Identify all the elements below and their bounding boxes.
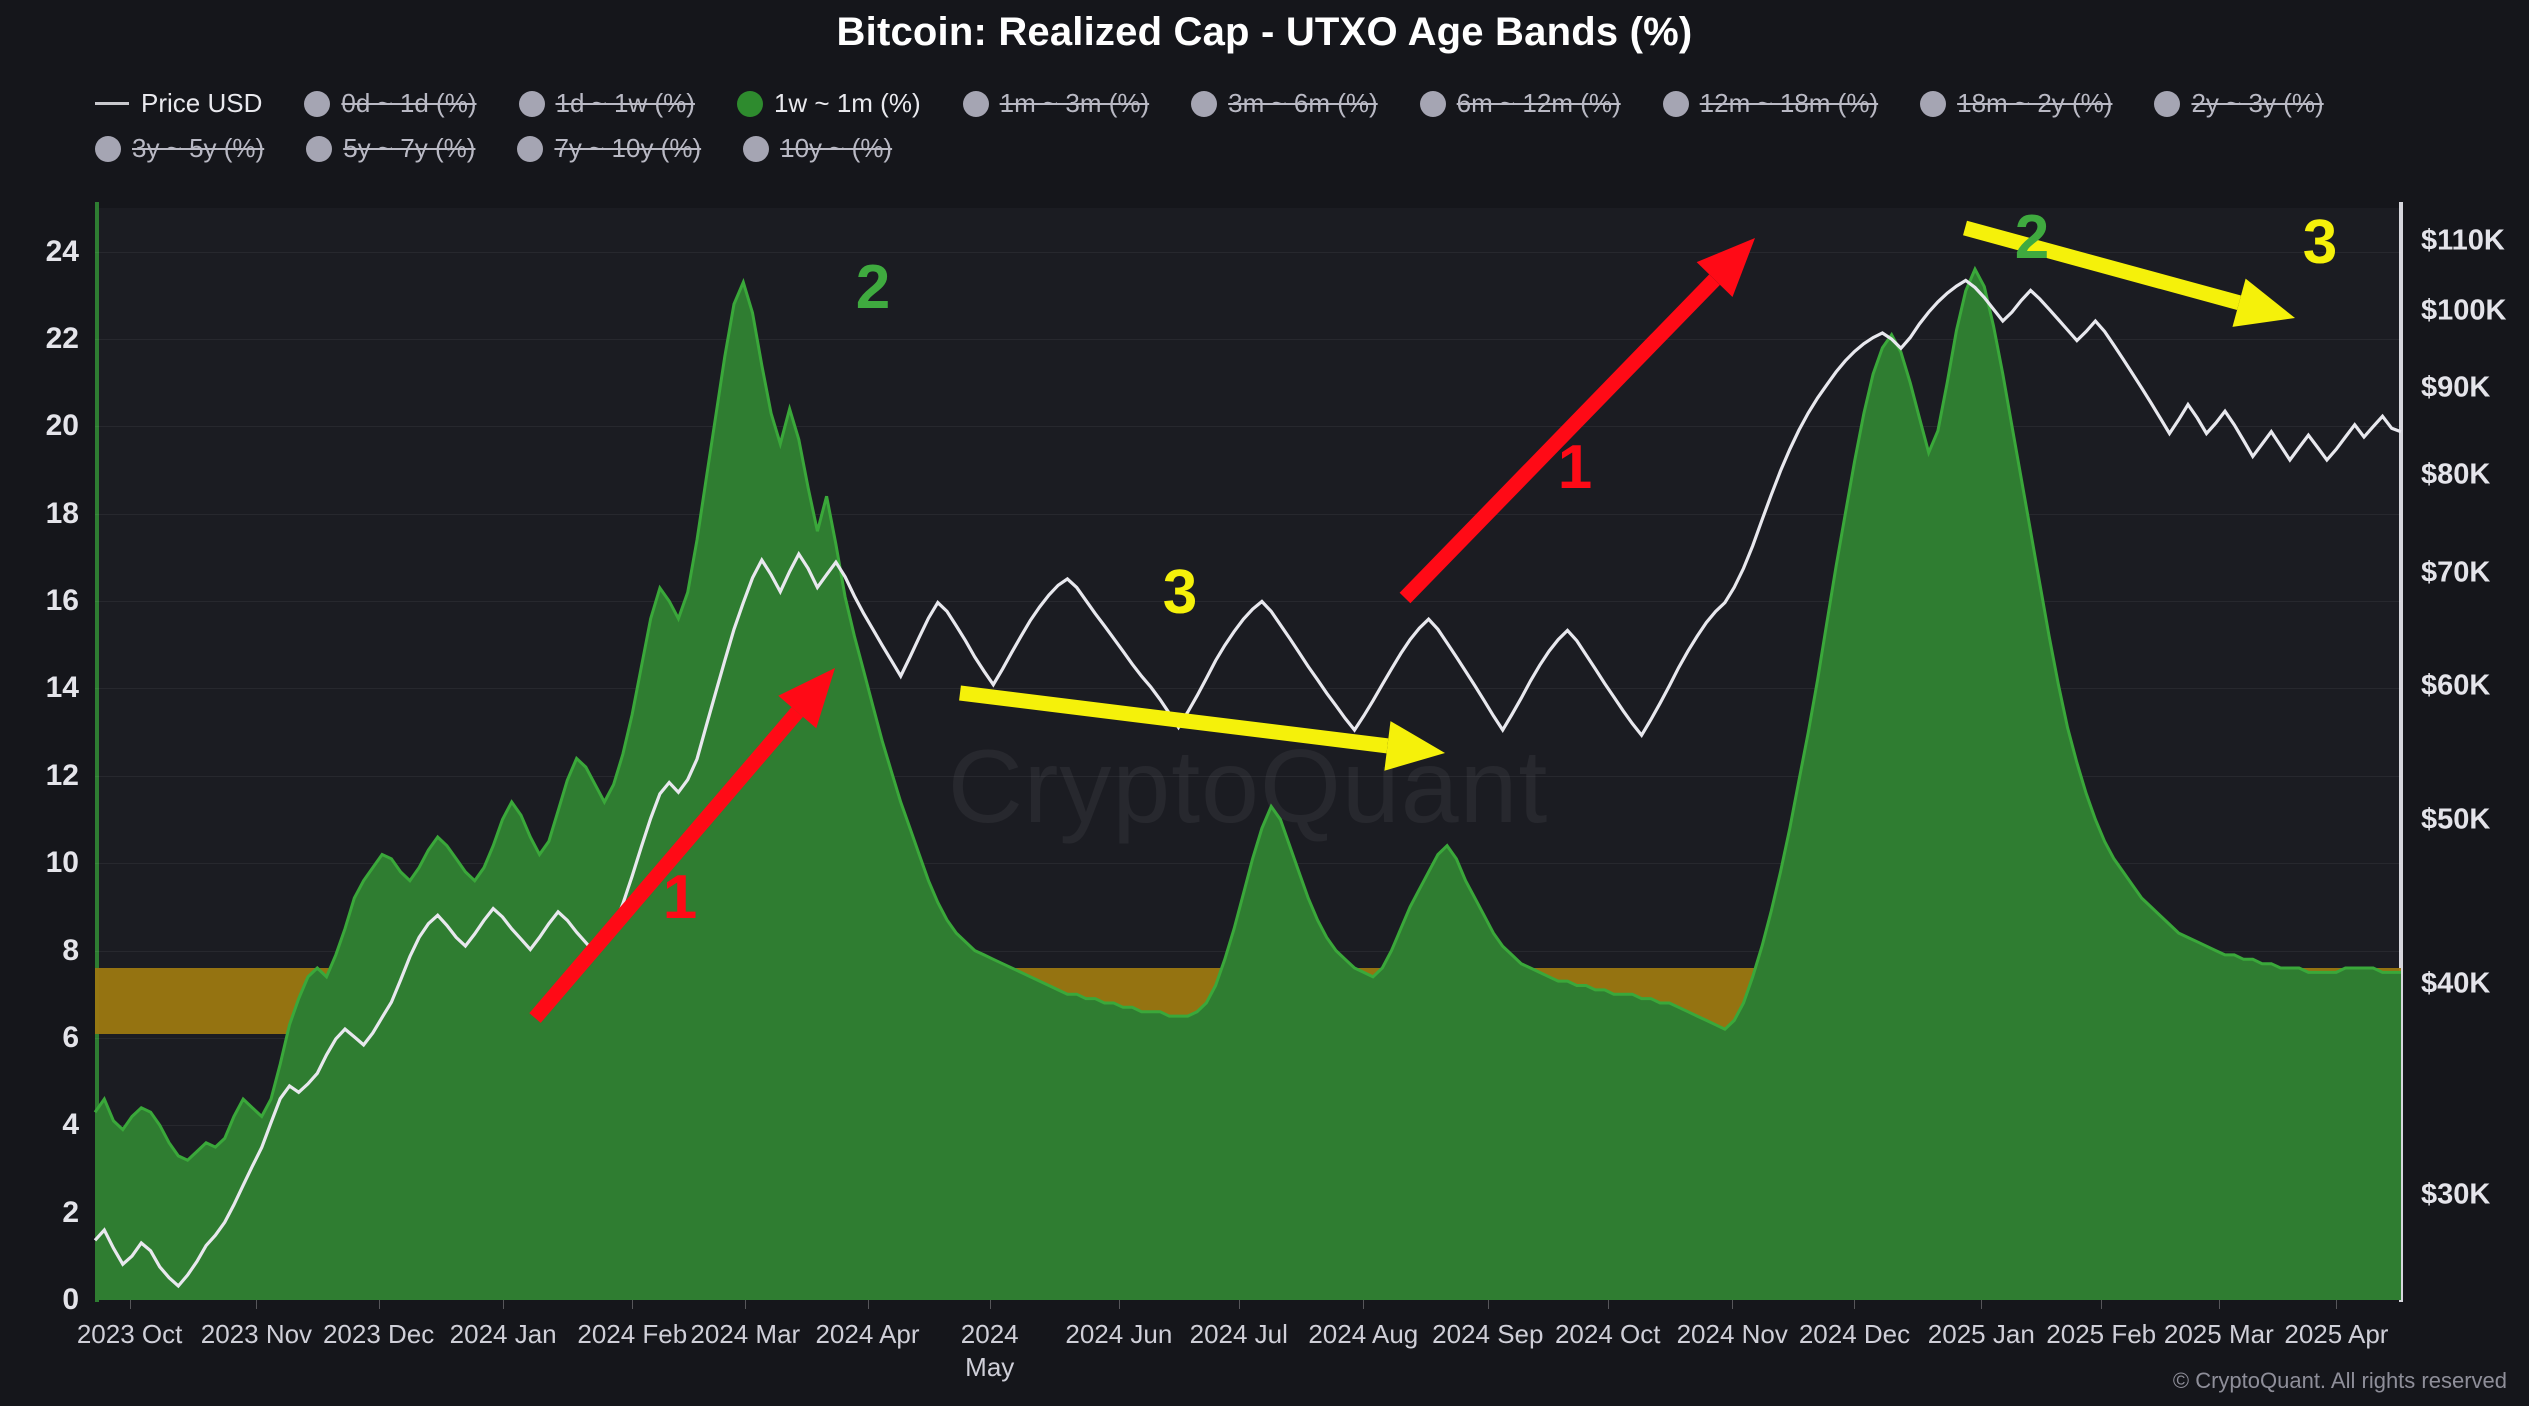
legend-label: 1w ~ 1m (%) — [774, 88, 921, 119]
price-line-swatch — [95, 102, 129, 105]
chart-title: Bitcoin: Realized Cap - UTXO Age Bands (… — [0, 10, 2529, 55]
x-axis-tickmark — [503, 1300, 504, 1309]
legend-item-1w-1m[interactable]: 1w ~ 1m (%) — [737, 88, 921, 119]
x-axis-tickmark — [868, 1300, 869, 1309]
x-axis-tickmark — [1119, 1300, 1120, 1309]
legend-dot-icon — [1191, 91, 1217, 117]
right-axis-tick-label: $110K — [2421, 224, 2529, 257]
right-axis-tick-label: $100K — [2421, 294, 2529, 327]
x-axis-tickmark — [1488, 1300, 1489, 1309]
legend-label: 18m ~ 2y (%) — [1957, 88, 2112, 119]
legend-label: 2y ~ 3y (%) — [2191, 88, 2323, 119]
legend-item-2y-3y[interactable]: 2y ~ 3y (%) — [2154, 88, 2323, 119]
left-axis-tick-label: 10 — [17, 846, 79, 880]
right-axis-tick-label: $80K — [2421, 458, 2529, 491]
x-axis-tickmark — [1732, 1300, 1733, 1309]
left-axis-tick-label: 4 — [17, 1108, 79, 1142]
left-axis-tick-label: 20 — [17, 409, 79, 443]
legend-dot-icon — [1663, 91, 1689, 117]
x-axis-tickmark — [1363, 1300, 1364, 1309]
left-axis-tick-label: 12 — [17, 759, 79, 793]
x-axis-tickmark — [2219, 1300, 2220, 1309]
right-axis-labels: $30K$40K$50K$60K$70K$80K$90K$100K$110K — [95, 208, 2401, 1300]
left-axis-tick-label: 22 — [17, 322, 79, 356]
right-axis-tick-label: $90K — [2421, 372, 2529, 405]
legend-item-price-usd[interactable]: Price USD — [95, 88, 262, 119]
legend-label: Price USD — [141, 88, 262, 119]
legend-item-3y-5y[interactable]: 3y ~ 5y (%) — [95, 133, 264, 164]
legend-item-6m-12m[interactable]: 6m ~ 12m (%) — [1420, 88, 1621, 119]
x-axis-tickmark — [2101, 1300, 2102, 1309]
legend-dot-icon — [2154, 91, 2180, 117]
x-axis-tickmark — [130, 1300, 131, 1309]
legend-label: 6m ~ 12m (%) — [1457, 88, 1621, 119]
legend-item-0d-1d[interactable]: 0d ~ 1d (%) — [304, 88, 476, 119]
legend-item-1d-1w[interactable]: 1d ~ 1w (%) — [519, 88, 695, 119]
legend-item-10y[interactable]: 10y ~ (%) — [743, 133, 892, 164]
legend-item-3m-6m[interactable]: 3m ~ 6m (%) — [1191, 88, 1378, 119]
x-axis-tickmark — [745, 1300, 746, 1309]
right-axis-tick-label: $50K — [2421, 803, 2529, 836]
x-axis-tickmark — [379, 1300, 380, 1309]
left-axis-tick-label: 6 — [17, 1021, 79, 1055]
legend-dot-icon — [1420, 91, 1446, 117]
x-axis-tickmark — [632, 1300, 633, 1309]
left-axis-tick-label: 18 — [17, 497, 79, 531]
left-axis-tick-label: 16 — [17, 584, 79, 618]
legend-item-12m-18m[interactable]: 12m ~ 18m (%) — [1663, 88, 1878, 119]
copyright-footer: © CryptoQuant. All rights reserved — [2173, 1368, 2507, 1394]
x-axis-tickmark — [1981, 1300, 1982, 1309]
legend-label: 1d ~ 1w (%) — [556, 88, 695, 119]
x-axis-tickmark — [2336, 1300, 2337, 1309]
legend-label: 1m ~ 3m (%) — [1000, 88, 1150, 119]
x-axis-tickmark — [256, 1300, 257, 1309]
chart-legend[interactable]: Price USD0d ~ 1d (%)1d ~ 1w (%)1w ~ 1m (… — [95, 88, 2475, 164]
x-axis-tickmark — [1608, 1300, 1609, 1309]
x-axis-tick-label: 2025 Apr — [2256, 1318, 2416, 1351]
left-axis-tick-label: 14 — [17, 671, 79, 705]
chart-root: Bitcoin: Realized Cap - UTXO Age Bands (… — [0, 0, 2529, 1406]
x-axis-tickmark — [1854, 1300, 1855, 1309]
legend-dot-icon — [306, 136, 332, 162]
x-axis-tickmark — [990, 1300, 991, 1309]
legend-label: 12m ~ 18m (%) — [1700, 88, 1878, 119]
legend-dot-icon — [737, 91, 763, 117]
legend-dot-icon — [519, 91, 545, 117]
legend-dot-icon — [1920, 91, 1946, 117]
legend-dot-icon — [963, 91, 989, 117]
legend-item-1m-3m[interactable]: 1m ~ 3m (%) — [963, 88, 1150, 119]
legend-label: 5y ~ 7y (%) — [343, 133, 475, 164]
legend-dot-icon — [95, 136, 121, 162]
legend-label: 7y ~ 10y (%) — [554, 133, 701, 164]
plot-area: CryptoQuant 123123 024681012141618202224… — [95, 208, 2401, 1300]
legend-label: 3y ~ 5y (%) — [132, 133, 264, 164]
legend-label: 0d ~ 1d (%) — [341, 88, 476, 119]
right-axis-tick-label: $30K — [2421, 1178, 2529, 1211]
left-axis-tick-label: 2 — [17, 1196, 79, 1230]
legend-dot-icon — [517, 136, 543, 162]
legend-label: 3m ~ 6m (%) — [1228, 88, 1378, 119]
left-axis-tick-label: 24 — [17, 235, 79, 269]
legend-item-5y-7y[interactable]: 5y ~ 7y (%) — [306, 133, 475, 164]
right-axis-tick-label: $60K — [2421, 669, 2529, 702]
legend-dot-icon — [304, 91, 330, 117]
legend-item-18m-2y[interactable]: 18m ~ 2y (%) — [1920, 88, 2112, 119]
right-axis-tick-label: $70K — [2421, 556, 2529, 589]
legend-dot-icon — [743, 136, 769, 162]
right-axis-tick-label: $40K — [2421, 967, 2529, 1000]
left-axis-tick-label: 0 — [17, 1283, 79, 1317]
legend-label: 10y ~ (%) — [780, 133, 892, 164]
x-axis-tickmark — [1239, 1300, 1240, 1309]
legend-item-7y-10y[interactable]: 7y ~ 10y (%) — [517, 133, 701, 164]
left-axis-tick-label: 8 — [17, 934, 79, 968]
